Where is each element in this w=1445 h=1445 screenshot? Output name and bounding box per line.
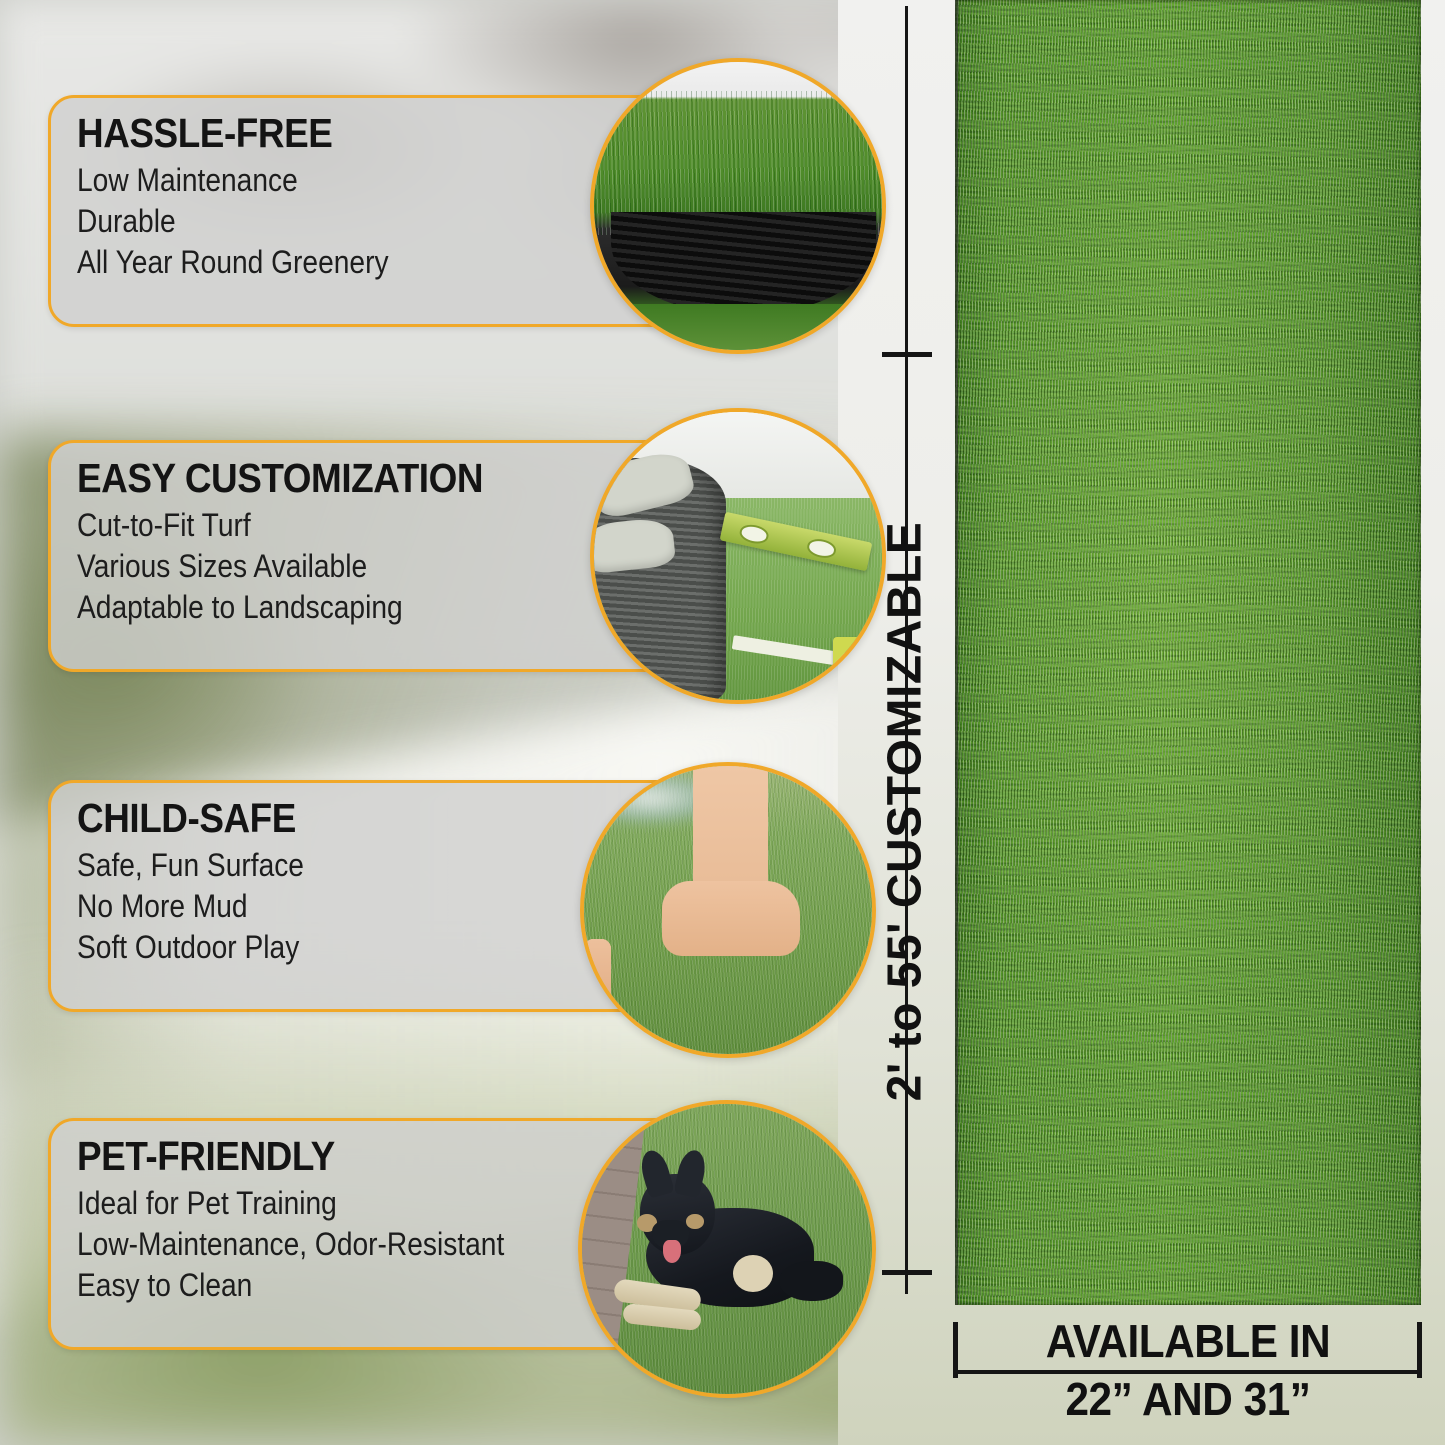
vertical-measure-cap-bottom xyxy=(882,1270,932,1275)
turf-backing-layers xyxy=(611,212,876,316)
feature-title: EASY CUSTOMIZATION xyxy=(77,457,604,500)
child-palm xyxy=(662,881,800,956)
feature-photo-turf-installation xyxy=(590,408,886,704)
feature-bullet: Easy to Clean xyxy=(77,1265,593,1306)
feature-photo-child-hand xyxy=(580,762,876,1058)
feature-title: PET-FRIENDLY xyxy=(77,1135,604,1178)
tape-measure-body xyxy=(833,637,870,674)
turf-installation-image xyxy=(594,412,882,700)
rolled-turf-image xyxy=(594,62,882,350)
feature-text-block: PET-FRIENDLY Ideal for Pet Training Low-… xyxy=(77,1135,663,1306)
feature-bullet: Adaptable to Landscaping xyxy=(77,587,593,628)
feature-bullet: No More Mud xyxy=(77,886,593,927)
available-sizes-text: 22” AND 31” xyxy=(960,1376,1416,1422)
infographic-canvas: HASSLE-FREE Low Maintenance Durable All … xyxy=(0,0,1445,1445)
feature-bullet: Ideal for Pet Training xyxy=(77,1183,593,1224)
turf-left-edge xyxy=(955,0,958,1305)
bottom-size-label: AVAILABLE IN 22” AND 31” xyxy=(940,1318,1436,1422)
feature-bullet: Cut-to-Fit Turf xyxy=(77,505,593,546)
turf-roll-swatch xyxy=(955,0,1421,1305)
lower-grass-band xyxy=(594,304,882,350)
child-hand-image xyxy=(584,766,872,1054)
feature-bullet: Low-Maintenance, Odor-Resistant xyxy=(77,1224,593,1265)
feature-text-block: HASSLE-FREE Low Maintenance Durable All … xyxy=(77,112,663,283)
feature-bullet: Low Maintenance xyxy=(77,160,593,201)
vertical-measure-text: 2' to 55' CUSTOMIZABLE xyxy=(878,521,933,1101)
feature-photo-dog xyxy=(578,1100,876,1398)
available-in-text: AVAILABLE IN xyxy=(960,1318,1416,1364)
dog-face-marking xyxy=(686,1214,703,1229)
feature-card-list: HASSLE-FREE Low Maintenance Durable All … xyxy=(0,0,900,1445)
feature-bullet: Soft Outdoor Play xyxy=(77,927,593,968)
feature-title: CHILD-SAFE xyxy=(77,797,604,840)
dog-on-turf-image xyxy=(582,1104,872,1394)
feature-bullet: All Year Round Greenery xyxy=(77,242,593,283)
feature-text-block: CHILD-SAFE Safe, Fun Surface No More Mud… xyxy=(77,797,663,968)
feature-title: HASSLE-FREE xyxy=(77,112,604,155)
feature-bullet: Durable xyxy=(77,201,593,242)
feature-bullet: Safe, Fun Surface xyxy=(77,845,593,886)
feature-text-block: EASY CUSTOMIZATION Cut-to-Fit Turf Vario… xyxy=(77,457,663,628)
feature-bullet: Various Sizes Available xyxy=(77,546,593,587)
child-finger xyxy=(584,939,611,1014)
vertical-measure-label: 2' to 55' CUSTOMIZABLE xyxy=(866,352,944,1270)
feature-photo-rolled-turf xyxy=(590,58,886,354)
dog-tail xyxy=(779,1261,843,1302)
